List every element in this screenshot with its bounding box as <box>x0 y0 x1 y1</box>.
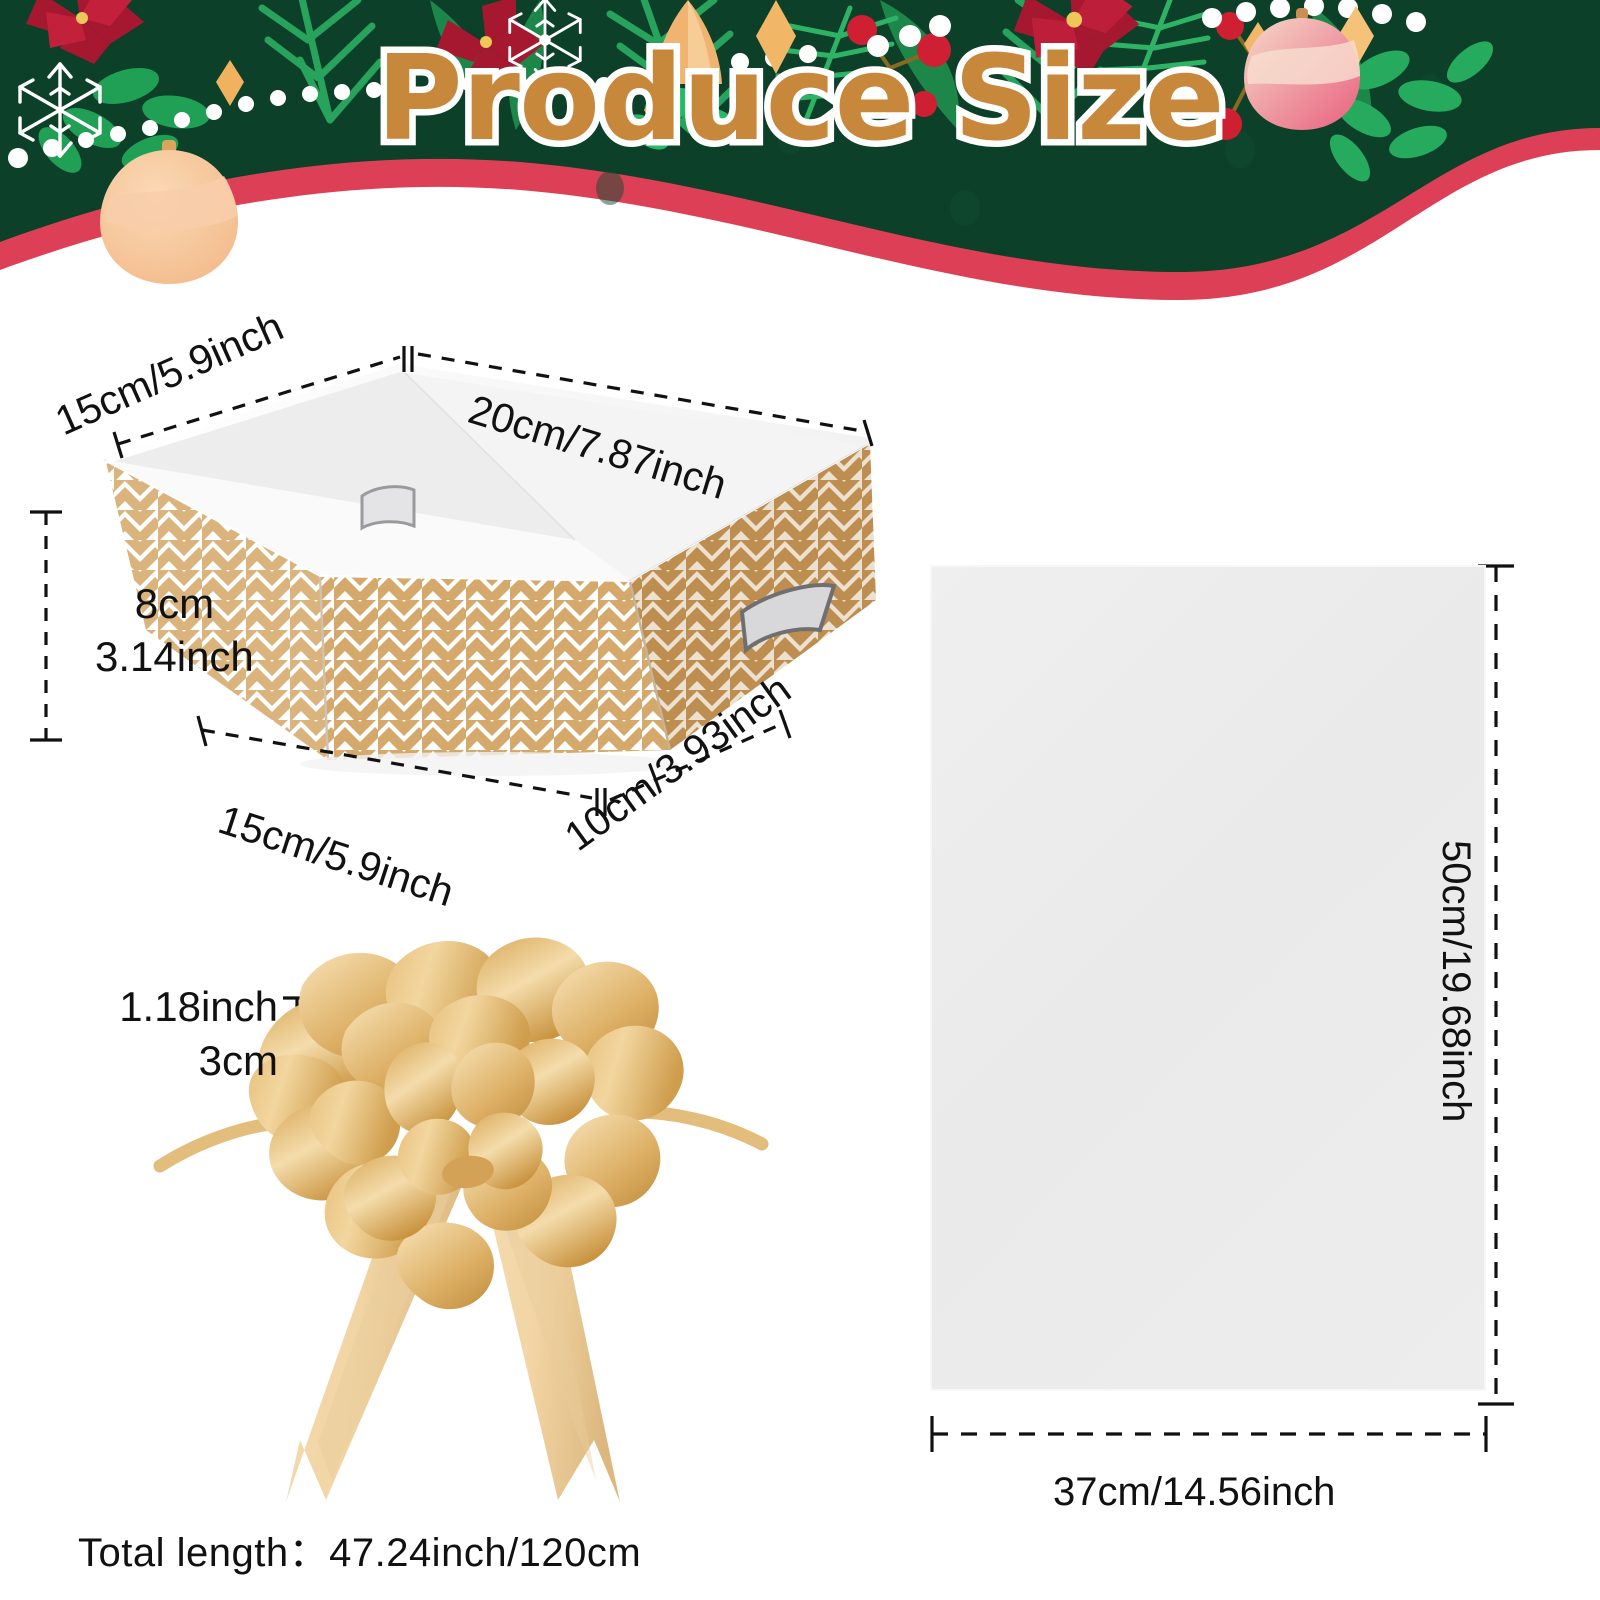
basket-height-label: 8cm 3.14inch <box>95 578 254 683</box>
pull-bow-illustration <box>150 880 830 1540</box>
bag-height-label: 50cm/19.68inch <box>1433 840 1478 1122</box>
bow-figure <box>150 880 830 1540</box>
clear-bag-rectangle <box>930 565 1486 1391</box>
bag-width-label: 37cm/14.56inch <box>1053 1470 1335 1515</box>
bow-width-label: 1.18inch 3cm <box>88 980 278 1088</box>
basket-height-inch: 3.14inch <box>95 631 254 684</box>
basket-height-cm: 8cm <box>95 578 254 631</box>
bow-width-inch: 1.18inch <box>88 980 278 1034</box>
bow-width-cm: 3cm <box>88 1034 278 1088</box>
product-size-diagram: 15cm/5.9inch 20cm/7.87inch 15cm/5.9inch … <box>0 0 1600 1600</box>
bow-total-length-caption: Total length：47.24inch/120cm <box>78 1520 641 1578</box>
